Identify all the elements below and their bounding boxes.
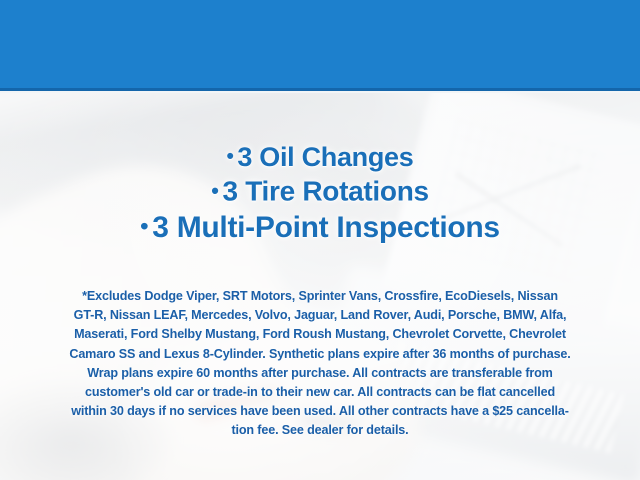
disclaimer-line: Camaro SS and Lexus 8-Cylinder. Syntheti… (22, 345, 618, 364)
bullet-dot-icon: • (211, 178, 218, 203)
list-item: •3 Tire Rotations (0, 174, 640, 209)
disclaimer-line: GT-R, Nissan LEAF, Mercedes, Volvo, Jagu… (22, 306, 618, 325)
header-banner (0, 0, 640, 88)
bullet-dot-icon: • (226, 145, 233, 168)
bullet-dot-icon: • (140, 213, 148, 239)
disclaimer-line: Wrap plans expire 60 months after purcha… (22, 364, 618, 383)
list-item: •3 Multi-Point Inspections (0, 209, 640, 245)
disclaimer-line: customer's old car or trade-in to their … (22, 383, 618, 402)
disclaimer-line: tion fee. See dealer for details. (22, 421, 618, 440)
list-item: •3 Oil Changes (0, 140, 640, 174)
list-item-label: 3 Tire Rotations (222, 176, 428, 207)
disclaimer-line: within 30 days if no services have been … (22, 402, 618, 421)
list-item-label: 3 Multi-Point Inspections (152, 211, 500, 244)
disclaimer-text: *Excludes Dodge Viper, SRT Motors, Sprin… (22, 287, 618, 441)
disclaimer-line: Maserati, Ford Shelby Mustang, Ford Rous… (22, 325, 618, 344)
header-banner-hairline (0, 91, 640, 93)
disclaimer-line: *Excludes Dodge Viper, SRT Motors, Sprin… (22, 287, 618, 306)
extracare-package-promo-card: ExtraCare Package* •3 Oil Changes •3 Tir… (0, 0, 640, 480)
benefits-list: •3 Oil Changes •3 Tire Rotations •3 Mult… (0, 140, 640, 245)
list-item-label: 3 Oil Changes (237, 142, 413, 172)
